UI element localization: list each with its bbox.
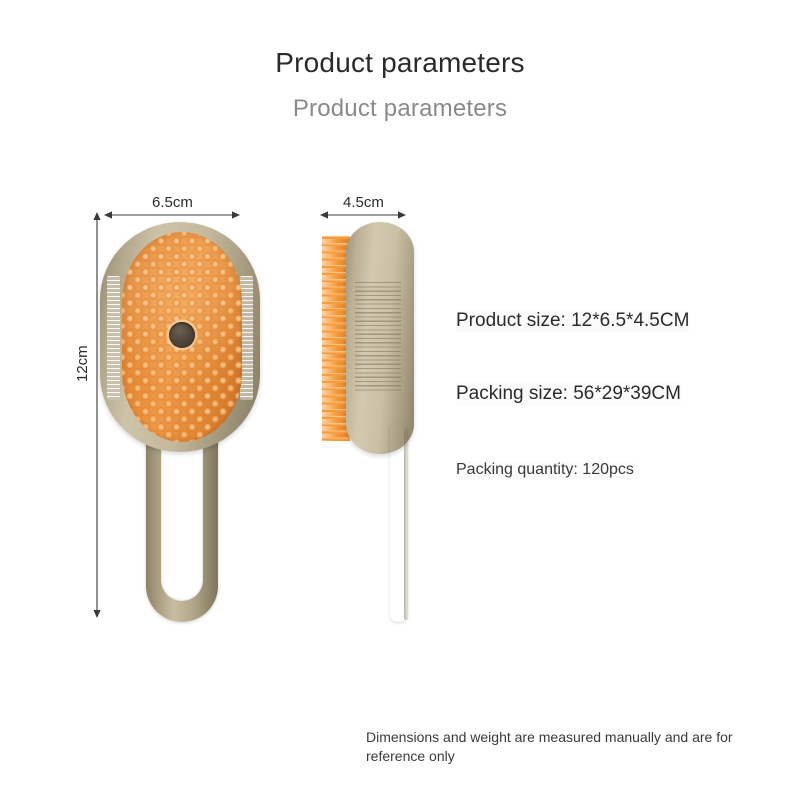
page-subtitle: Product parameters [0,95,800,123]
page-title: Product parameters [0,47,800,79]
front-width-arrow [104,208,244,222]
spec-packing-quantity: Packing quantity: 120pcs [456,461,634,479]
spec-product-size: Product size: 12*6.5*4.5CM [456,310,689,332]
product-front-view [98,222,263,622]
product-parameters-page: { "header": { "title": "Product paramete… [0,0,800,800]
spec-packing-size: Packing size: 56*29*39CM [456,383,681,405]
center-hole [169,322,195,348]
side-rib-lines [355,282,401,394]
front-height-label: 12cm [74,345,91,382]
comb-teeth-left [107,276,120,400]
side-depth-arrow [320,208,410,222]
product-side-view [312,222,472,632]
disclaimer-note: Dimensions and weight are measured manua… [366,728,778,766]
side-handle-shadow [404,428,409,620]
front-brush-head [100,222,260,452]
